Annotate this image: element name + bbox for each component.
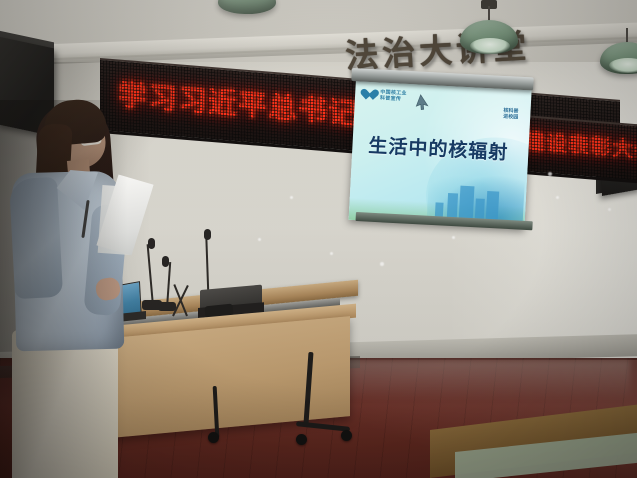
- dust-mote-8: [608, 208, 611, 211]
- lamp-glow-1: [470, 38, 510, 54]
- dust-mote-7: [452, 236, 455, 239]
- dust-mote-3: [380, 262, 384, 266]
- slide-logo-right: 核科普 进校园: [503, 108, 519, 121]
- dust-mote-6: [290, 196, 293, 199]
- projection-screen: 中国核工业 科普宣传 核科普 进校园 生活中的核辐射: [349, 78, 532, 229]
- lecture-hall-photo: 法治大讲堂 学习习近平总书记对精神文明 明建设表彰大会精神: [0, 0, 637, 478]
- table-caster-3: [208, 432, 219, 443]
- microphone-head-3: [204, 229, 211, 240]
- presenter-skirt: [12, 330, 118, 478]
- dust-mote-4: [548, 172, 552, 176]
- slide-logo-left-text: 中国核工业 科普宣传: [380, 90, 407, 103]
- slide-logo-left-line2: 科普宣传: [380, 95, 401, 102]
- table-caster-1: [341, 430, 352, 441]
- table-caster-2: [296, 434, 307, 445]
- slide-logo-left: 中国核工业 科普宣传: [363, 88, 407, 103]
- slide-logo-right-line2: 进校园: [503, 114, 518, 121]
- dust-mote-5: [556, 196, 559, 199]
- heart-icon: [363, 88, 377, 102]
- presenter-left-sleeve: [9, 177, 63, 299]
- dust-mote-2: [330, 252, 333, 255]
- microphone-head-2: [162, 256, 169, 267]
- floor-reflection: [330, 360, 630, 400]
- dust-mote-1: [258, 238, 261, 241]
- microphone-base-2: [158, 302, 176, 311]
- microphone-head-1: [148, 238, 155, 249]
